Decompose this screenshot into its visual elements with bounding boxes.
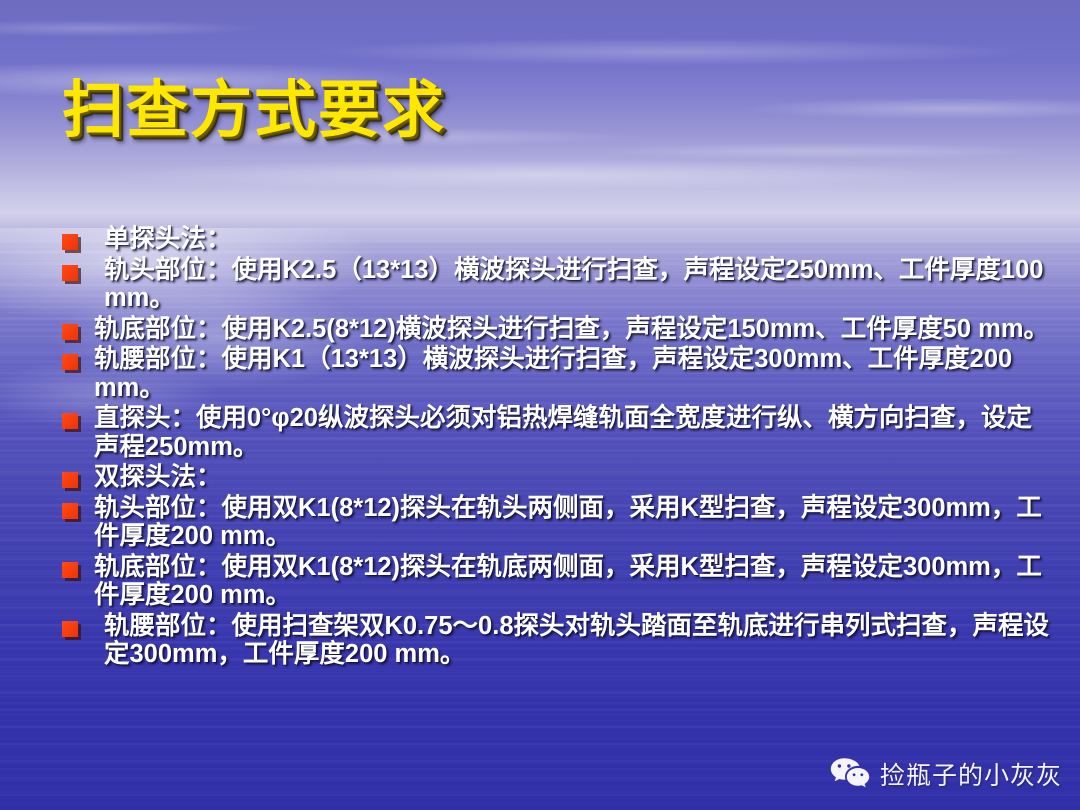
wechat-icon	[830, 757, 870, 791]
list-item-text: 轨底部位：使用双K1(8*12)探头在轨底两侧面，采用K型扫查，声程设定300m…	[94, 553, 1052, 610]
bullet-list: 单探头法： 轨头部位：使用K2.5（13*13）横波探头进行扫查，声程设定250…	[62, 225, 1052, 671]
list-item-text: 直探头：使用0°φ20纵波探头必须对铝热焊缝轨面全宽度进行纵、横方向扫查，设定声…	[94, 404, 1052, 461]
list-item: 轨头部位：使用双K1(8*12)探头在轨头两侧面，采用K型扫查，声程设定300m…	[62, 494, 1052, 551]
bullet-square-icon	[62, 562, 78, 578]
bullet-square-icon	[62, 324, 78, 340]
bullet-square-icon	[62, 503, 78, 519]
list-item-text: 轨头部位：使用双K1(8*12)探头在轨头两侧面，采用K型扫查，声程设定300m…	[94, 494, 1052, 551]
bullet-square-icon	[62, 621, 78, 637]
presentation-slide: 扫查方式要求 单探头法： 轨头部位：使用K2.5（13*13）横波探头进行扫查，…	[0, 0, 1080, 810]
list-item: 轨底部位：使用双K1(8*12)探头在轨底两侧面，采用K型扫查，声程设定300m…	[62, 553, 1052, 610]
bullet-square-icon	[62, 413, 78, 429]
watermark-label: 捡瓶子的小灰灰	[880, 756, 1062, 792]
list-item: 直探头：使用0°φ20纵波探头必须对铝热焊缝轨面全宽度进行纵、横方向扫查，设定声…	[62, 404, 1052, 461]
list-item-text: 轨头部位：使用K2.5（13*13）横波探头进行扫查，声程设定250mm、工件厚…	[94, 256, 1052, 313]
list-item: 轨头部位：使用K2.5（13*13）横波探头进行扫查，声程设定250mm、工件厚…	[62, 256, 1052, 313]
list-item: 轨腰部位：使用扫查架双K0.75～0.8探头对轨头踏面至轨底进行串列式扫查，声程…	[62, 612, 1052, 669]
list-item-text: 双探头法：	[94, 463, 1052, 492]
list-item: 双探头法：	[62, 463, 1052, 492]
bullet-square-icon	[62, 472, 78, 488]
list-item: 轨腰部位：使用K1（13*13）横波探头进行扫查，声程设定300mm、工件厚度2…	[62, 345, 1052, 402]
list-item: 轨底部位：使用K2.5(8*12)横波探头进行扫查，声程设定150mm、工件厚度…	[62, 315, 1052, 344]
list-item-text: 单探头法：	[94, 225, 1052, 254]
slide-title: 扫查方式要求	[62, 78, 446, 143]
bullet-square-icon	[62, 234, 78, 250]
bullet-square-icon	[62, 354, 78, 370]
bullet-square-icon	[62, 265, 78, 281]
list-item-text: 轨腰部位：使用扫查架双K0.75～0.8探头对轨头踏面至轨底进行串列式扫查，声程…	[94, 612, 1052, 669]
list-item-text: 轨腰部位：使用K1（13*13）横波探头进行扫查，声程设定300mm、工件厚度2…	[94, 345, 1052, 402]
watermark: 捡瓶子的小灰灰	[830, 756, 1062, 792]
list-item-text: 轨底部位：使用K2.5(8*12)横波探头进行扫查，声程设定150mm、工件厚度…	[94, 315, 1052, 344]
list-item: 单探头法：	[62, 225, 1052, 254]
